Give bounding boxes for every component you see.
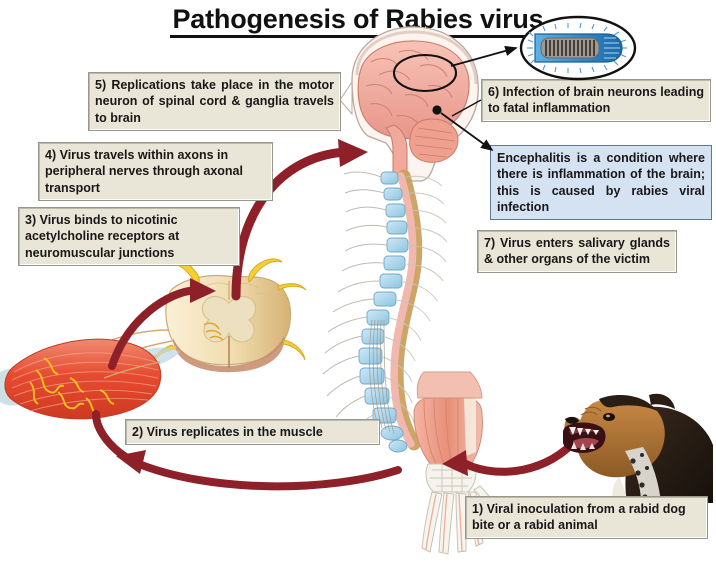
step-3-label: 3) Virus binds to nicotinic acetylcholin… — [25, 213, 179, 260]
step-box-6[interactable]: 6) Infection of brain neurons leading to… — [481, 79, 711, 122]
step-box-4[interactable]: 4) Virus travels within axons in periphe… — [38, 142, 273, 201]
step-box-3[interactable]: 3) Virus binds to nicotinic acetylcholin… — [18, 207, 240, 266]
head-brain-figure — [340, 27, 478, 181]
step-box-1[interactable]: 1) Viral inoculation from a rabid dog bi… — [465, 496, 708, 539]
muscle-figure — [0, 339, 180, 419]
step-1-label: 1) Viral inoculation from a rabid dog bi… — [472, 502, 686, 532]
step-box-2[interactable]: 2) Virus replicates in the muscle — [125, 419, 380, 445]
encephalitis-note-label: Encephalitis is a condition where there … — [497, 151, 705, 214]
step-5-label: 5) Replications take place in the motor … — [95, 78, 334, 125]
rabies-pathogenesis-diagram: Pathogenesis of Rabies virus — [0, 0, 716, 564]
step-4-label: 4) Virus travels within axons in periphe… — [45, 148, 243, 195]
step-box-5[interactable]: 5) Replications take place in the motor … — [88, 72, 341, 131]
encephalitis-note-box[interactable]: Encephalitis is a condition where there … — [490, 145, 712, 220]
step-7-label: 7) Virus enters salivary glands & other … — [484, 236, 670, 266]
step-6-label: 6) Infection of brain neurons leading to… — [488, 85, 704, 115]
step-box-7[interactable]: 7) Virus enters salivary glands & other … — [477, 230, 677, 273]
rabid-dog-photo — [563, 385, 713, 503]
step-2-label: 2) Virus replicates in the muscle — [132, 425, 323, 439]
